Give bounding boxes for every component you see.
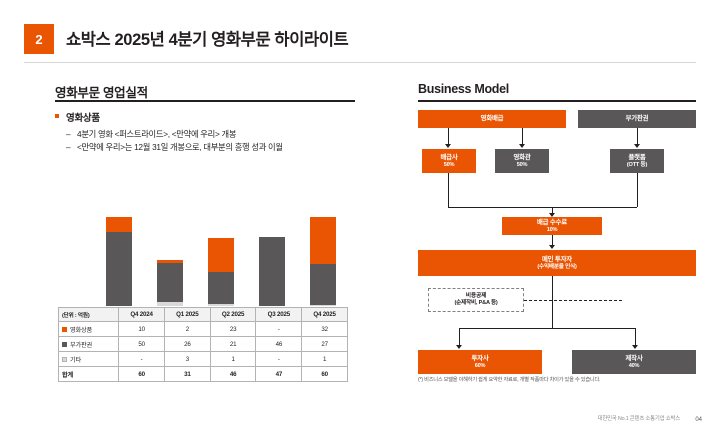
table-cell: 46: [256, 337, 302, 352]
table-cell: 10: [119, 322, 165, 337]
table-col-q3-2025: Q3 2025: [256, 308, 302, 322]
table-row-label-ancillary: 부가판권: [59, 337, 119, 352]
node-producer: 제작사 40%: [572, 350, 696, 374]
table-total-cell: 47: [256, 367, 302, 382]
chart-columns: [94, 214, 348, 306]
table-cell: 3: [164, 352, 210, 367]
table-row-label-text: 영화상품: [70, 327, 92, 334]
connector-arrowhead: [445, 144, 451, 148]
bar-segment-ancillary: [157, 263, 183, 302]
table-cell: 2: [164, 322, 210, 337]
footer-page-number: 04: [695, 417, 702, 423]
connector-line: [553, 207, 637, 208]
table-cell: 1: [302, 352, 348, 367]
table-cell: 21: [210, 337, 256, 352]
node-theater: 영화관 50%: [495, 149, 549, 173]
table-total-cell: 60: [302, 367, 348, 382]
node-main-investor: 메인 투자자 (수익배분율 인식): [418, 250, 696, 276]
node-sublabel: (순제작비, P&A 등): [454, 300, 497, 307]
table-row: 부가판권 50 26 21 46 27: [59, 337, 348, 352]
node-sublabel: 10%: [547, 227, 558, 234]
revenue-table: (단위 : 억원) Q4 2024 Q1 2025 Q2 2025 Q3 202…: [58, 307, 348, 382]
node-sublabel: 40%: [629, 363, 640, 370]
bar-segment-other: [310, 305, 336, 307]
node-sublabel: 50%: [517, 162, 528, 169]
bullet-sub-2: <만약에 우리>는 12월 31일 개봉으로, 대부분의 흥행 성과 이월: [55, 142, 355, 153]
table-cell: -: [256, 322, 302, 337]
bar-segment-other: [208, 304, 234, 307]
node-label: 배급 수수료: [537, 219, 567, 227]
right-section-rule: [418, 100, 696, 102]
table-cell: 50: [119, 337, 165, 352]
chart-column-q4-2025: [297, 214, 348, 306]
node-ancillary-rights: 부가판권: [578, 110, 696, 128]
connector-line: [552, 276, 553, 328]
table-unit-label: (단위 : 억원): [59, 308, 119, 322]
node-cost-deduction: 비용공제 (순제작비, P&A 등): [428, 288, 524, 312]
bar-segment-other: [157, 302, 183, 306]
bar-segment-film: [106, 217, 132, 232]
node-sublabel: (OTT 등): [627, 162, 647, 169]
table-total-label: 합계: [59, 367, 119, 382]
connector-arrowhead: [519, 144, 525, 148]
table-row-label-other: 기타: [59, 352, 119, 367]
chart-column-q4-2024: [94, 214, 145, 306]
node-sublabel: 60%: [475, 363, 486, 370]
connector-arrowhead: [632, 345, 638, 349]
table-total-row: 합계 60 31 46 47 60: [59, 367, 348, 382]
connector-line: [459, 328, 635, 329]
right-section-title: Business Model: [418, 82, 509, 96]
connector-line: [448, 207, 552, 208]
bullet-main: 영화상품: [55, 110, 355, 124]
connector-line: [635, 328, 636, 346]
node-platform: 플랫폼 (OTT 등): [610, 149, 664, 173]
table-cell: 27: [302, 337, 348, 352]
connector-arrowhead: [456, 345, 462, 349]
table-cell: 1: [210, 352, 256, 367]
node-investor: 투자사 60%: [418, 350, 542, 374]
header-divider: [24, 62, 696, 63]
node-sublabel: 50%: [444, 162, 455, 169]
legend-swatch-ancillary: [62, 342, 67, 347]
bar-segment-ancillary: [208, 272, 234, 303]
diagram-footnote: (*) 비즈니스 모델을 이해하기 쉽게 요약한 자료로, 개별 작품마다 차이…: [418, 376, 696, 383]
table-cell: 32: [302, 322, 348, 337]
node-label: 제작사: [625, 355, 642, 363]
connector-line: [637, 128, 638, 145]
node-distributor: 배급사 50%: [422, 149, 476, 173]
slide-number-badge: 2: [24, 24, 54, 54]
legend-swatch-other: [62, 357, 67, 362]
table-cell: 26: [164, 337, 210, 352]
connector-line: [522, 128, 523, 145]
connector-line: [448, 128, 449, 145]
table-row-label-text: 기타: [70, 357, 81, 364]
bar-segment-film: [310, 217, 336, 264]
table-row-label-text: 부가판권: [70, 342, 92, 349]
bullet-sub-1: 4분기 영화 <퍼스트라이드>, <만약에 우리> 개봉: [55, 129, 355, 140]
connector-line: [448, 173, 449, 207]
node-label: 부가판권: [626, 115, 649, 123]
business-model-diagram: 영화배급 부가판권 배급사 50% 영화관 50% 플랫폼 (OTT 등): [418, 106, 696, 376]
node-label: 플랫폼: [628, 154, 645, 162]
connector-arrowhead: [634, 144, 640, 148]
revenue-stacked-bar-chart: [58, 214, 348, 306]
table-cell: -: [256, 352, 302, 367]
chart-column-q1-2025: [145, 214, 196, 306]
bar-segment-ancillary: [106, 232, 132, 306]
table-total-cell: 60: [119, 367, 165, 382]
node-label: 배급사: [440, 154, 457, 162]
table-col-q4-2024: Q4 2024: [119, 308, 165, 322]
node-label: 메인 투자자: [542, 256, 572, 264]
table-row-label-film: 영화상품: [59, 322, 119, 337]
table-header-row: (단위 : 억원) Q4 2024 Q1 2025 Q2 2025 Q3 202…: [59, 308, 348, 322]
node-label: 영화관: [513, 154, 530, 162]
bar-segment-ancillary: [259, 237, 285, 306]
page-title: 쇼박스 2025년 4분기 영화부문 하이라이트: [66, 26, 348, 50]
node-sublabel: (수익배분율 인식): [537, 264, 576, 271]
left-section-rule: [55, 100, 355, 102]
node-label: 영화배급: [481, 115, 504, 123]
table-col-q2-2025: Q2 2025: [210, 308, 256, 322]
bar-segment-film: [208, 238, 234, 272]
chart-column-q3-2025: [246, 214, 297, 306]
slide: 2 쇼박스 2025년 4분기 영화부문 하이라이트 영화부문 영업실적 영화상…: [0, 0, 720, 432]
legend-swatch-film: [62, 327, 67, 332]
connector-arrowhead: [549, 245, 555, 249]
node-distribution-revenue: 영화배급: [418, 110, 566, 128]
table-total-cell: 46: [210, 367, 256, 382]
left-bullets: 영화상품 4분기 영화 <퍼스트라이드>, <만약에 우리> 개봉 <만약에 우…: [55, 110, 355, 155]
table-cell: 23: [210, 322, 256, 337]
connector-line: [637, 173, 638, 207]
table-row: 기타 - 3 1 - 1: [59, 352, 348, 367]
table-col-q4-2025: Q4 2025: [302, 308, 348, 322]
table-row: 영화상품 10 2 23 - 32: [59, 322, 348, 337]
table-cell: -: [119, 352, 165, 367]
table-col-q1-2025: Q1 2025: [164, 308, 210, 322]
footer-text: 대한민국 No.1 콘텐츠 소통기업 쇼박스: [598, 414, 680, 422]
left-section-title: 영화부문 영업실적: [55, 82, 148, 101]
chart-column-q2-2025: [196, 214, 247, 306]
node-distribution-fee: 배급 수수료 10%: [502, 217, 602, 235]
bar-segment-ancillary: [310, 264, 336, 304]
table-total-cell: 31: [164, 367, 210, 382]
connector-line: [459, 328, 460, 346]
node-label: 투자사: [471, 355, 488, 363]
connector-dashed-line: [524, 300, 622, 301]
